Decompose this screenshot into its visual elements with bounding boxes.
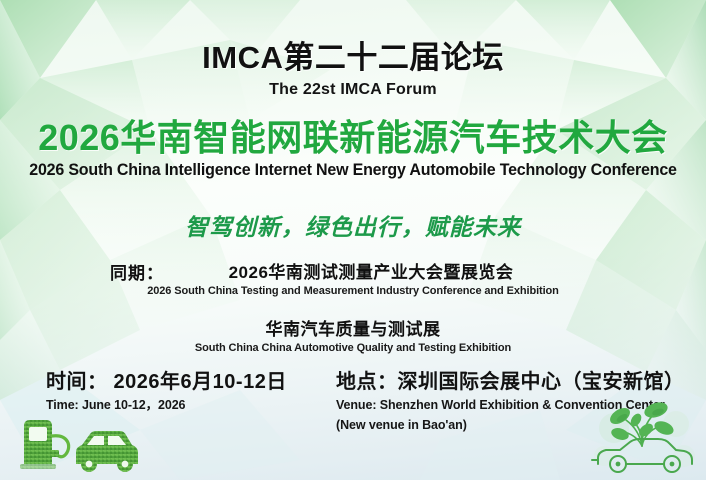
event-time-en: Time: June 10-12，2026 [46, 397, 287, 414]
concurrent-event-2-cn: 华南汽车质量与测试展 [0, 315, 706, 340]
main-title-en: 2026 South China Intelligence Internet N… [11, 161, 696, 180]
poster-tagline: 智驾创新，绿色出行，赋能未来 [0, 208, 706, 242]
leafy-green-car-icon [584, 398, 702, 478]
concurrent-event-1: 同期： 2026华南测试测量产业大会暨展览会 2026 South China … [0, 258, 706, 297]
event-venue-cn: 地点：深圳国际会展中心（宝安新馆） [336, 365, 685, 394]
concurrent-event-2: 华南汽车质量与测试展 South China China Automotive … [0, 315, 706, 354]
conference-poster: IMCA第二十二届论坛 The 22st IMCA Forum 2026华南智能… [0, 0, 706, 480]
poster-header: IMCA第二十二届论坛 The 22st IMCA Forum [0, 42, 706, 99]
main-title-block: 2026华南智能网联新能源汽车技术大会 2026 South China Int… [0, 118, 706, 180]
concurrent-event-1-en: 2026 South China Testing and Measurement… [0, 285, 706, 297]
ev-charging-station-icon [16, 414, 142, 476]
concurrent-label: 同期： [110, 259, 164, 284]
concurrent-events-block: 同期： 2026华南测试测量产业大会暨展览会 2026 South China … [0, 258, 706, 354]
event-time-cn: 时间： 2026年6月10-12日 [46, 365, 287, 394]
forum-title-en: The 22st IMCA Forum [0, 81, 706, 99]
concurrent-event-2-en: South China China Automotive Quality and… [0, 342, 706, 354]
event-time-block: 时间： 2026年6月10-12日 Time: June 10-12，2026 [46, 365, 287, 414]
concurrent-event-1-cn: 2026华南测试测量产业大会暨展览会 [0, 258, 706, 283]
main-title-cn: 2026华南智能网联新能源汽车技术大会 [0, 118, 706, 158]
forum-title-cn: IMCA第二十二届论坛 [0, 42, 706, 75]
